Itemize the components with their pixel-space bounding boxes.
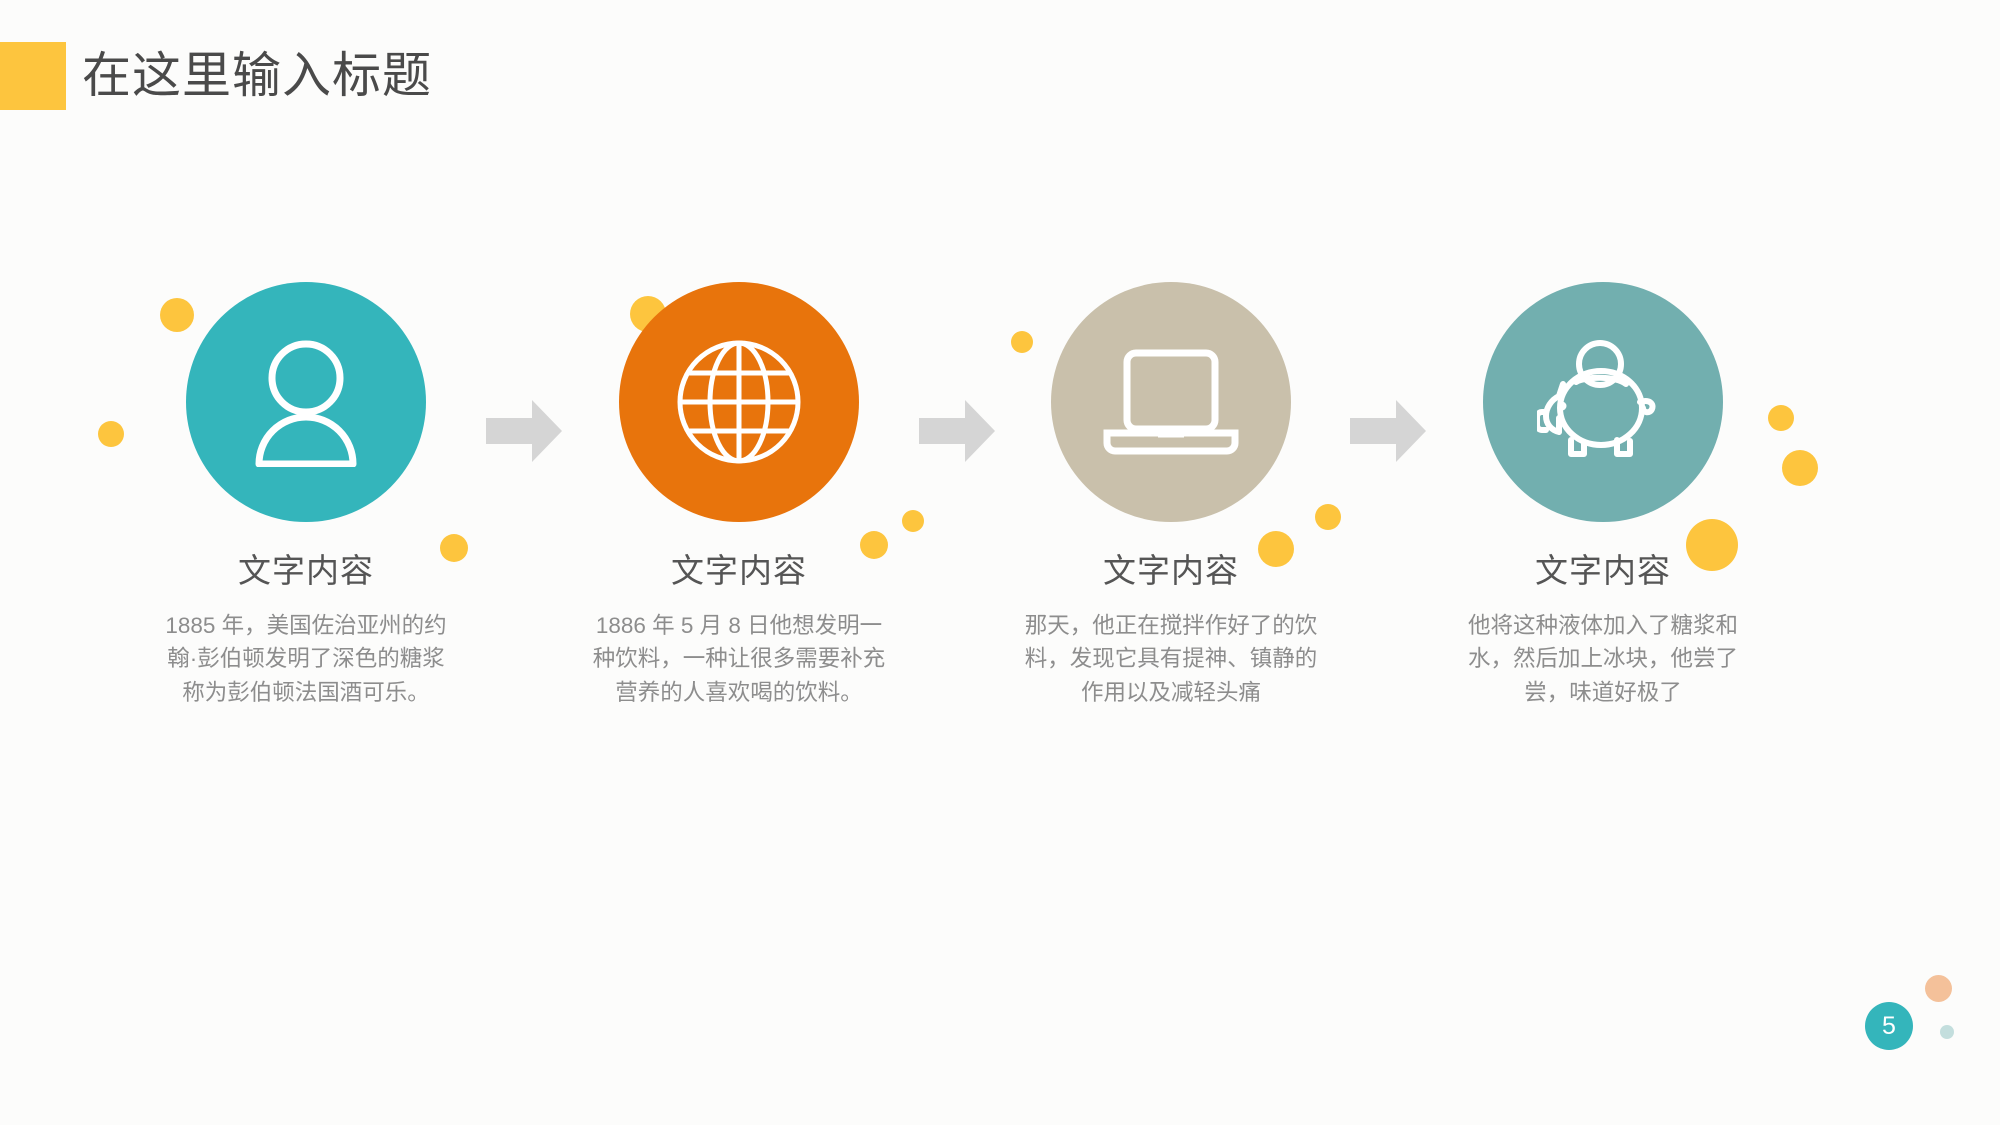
- decor-dot: [98, 421, 124, 447]
- step-3-body: 那天，他正在搅拌作好了的饮料，发现它具有提神、镇静的作用以及减轻头痛: [1016, 609, 1326, 709]
- slide-canvas: 在这里输入标题 文字内容 1885 年，美国佐治亚州的约翰·彭伯顿发明了深色的糖…: [0, 0, 2000, 1125]
- step-2-body: 1886 年 5 月 8 日他想发明一种饮料，一种让很多需要补充营养的人喜欢喝的…: [584, 609, 894, 709]
- step-2-circle[interactable]: [619, 282, 859, 522]
- step-4[interactable]: 文字内容 他将这种液体加入了糖浆和水，然后加上冰块，他尝了尝，味道好极了: [1448, 282, 1758, 709]
- page-decor-dot-teal: [1940, 1025, 1954, 1039]
- decor-dot: [1782, 450, 1818, 486]
- step-3-circle[interactable]: [1051, 282, 1291, 522]
- step-2-title: 文字内容: [584, 554, 894, 587]
- laptop-icon: [1103, 349, 1239, 455]
- decor-dot: [1768, 405, 1794, 431]
- page-title: 在这里输入标题: [82, 52, 432, 101]
- step-1[interactable]: 文字内容 1885 年，美国佐治亚州的约翰·彭伯顿发明了深色的糖浆称为彭伯顿法国…: [151, 282, 461, 709]
- step-4-circle[interactable]: [1483, 282, 1723, 522]
- step-4-body: 他将这种液体加入了糖浆和水，然后加上冰块，他尝了尝，味道好极了: [1448, 609, 1758, 709]
- slide-title-bar: 在这里输入标题: [0, 42, 432, 110]
- step-1-body: 1885 年，美国佐治亚州的约翰·彭伯顿发明了深色的糖浆称为彭伯顿法国酒可乐。: [151, 609, 461, 709]
- piggy-bank-icon: [1537, 340, 1669, 464]
- page-decor-dot-peach: [1925, 975, 1952, 1002]
- step-3[interactable]: 文字内容 那天，他正在搅拌作好了的饮料，发现它具有提神、镇静的作用以及减轻头痛: [1016, 282, 1326, 709]
- decor-dot: [902, 510, 924, 532]
- step-3-title: 文字内容: [1016, 554, 1326, 587]
- arrow-1: [486, 400, 562, 462]
- arrow-2: [919, 400, 995, 462]
- step-4-title: 文字内容: [1448, 554, 1758, 587]
- page-number-badge: 5: [1865, 1002, 1913, 1050]
- title-accent-swatch: [0, 42, 66, 110]
- step-2[interactable]: 文字内容 1886 年 5 月 8 日他想发明一种饮料，一种让很多需要补充营养的…: [584, 282, 894, 709]
- step-1-circle[interactable]: [186, 282, 426, 522]
- person-icon: [246, 337, 366, 467]
- arrow-3: [1350, 400, 1426, 462]
- globe-icon: [676, 339, 802, 465]
- step-1-title: 文字内容: [151, 554, 461, 587]
